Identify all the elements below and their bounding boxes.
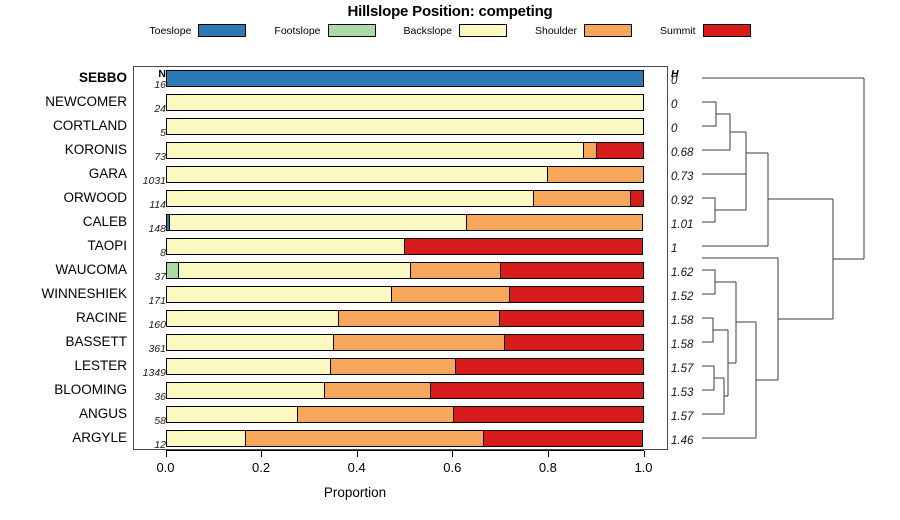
row-label-newcomer: NEWCOMER — [2, 91, 127, 113]
bar-segment-summit — [483, 430, 643, 447]
bar-segment-summit — [630, 190, 644, 207]
row-n-value: 148 — [136, 218, 166, 240]
row-n-value: 8 — [136, 242, 166, 264]
bar-segment-backslope — [166, 382, 326, 399]
bar-segment-backslope — [166, 142, 585, 159]
row-n-value: 171 — [136, 290, 166, 312]
stacked-bar-argyle — [166, 430, 644, 447]
x-axis-tick-label: 0.8 — [528, 460, 568, 475]
x-axis-tick — [357, 451, 358, 457]
legend-swatch-shoulder — [584, 24, 632, 37]
row-label-winneshiek: WINNESHIEK — [2, 283, 127, 305]
x-axis-tick — [644, 451, 645, 457]
row-n-value: 58 — [136, 410, 166, 432]
dendrogram-svg — [668, 66, 900, 450]
bar-segment-backslope — [166, 358, 332, 375]
bar-segment-shoulder — [297, 406, 455, 423]
bar-segment-summit — [455, 358, 643, 375]
x-axis-line — [166, 450, 644, 451]
x-axis-tick-label: 0.2 — [241, 460, 281, 475]
row-n-value: 5 — [136, 122, 166, 144]
row-label-blooming: BLOOMING — [2, 379, 127, 401]
bar-segment-backslope — [178, 262, 411, 279]
x-axis-tick-label: 0.0 — [146, 460, 186, 475]
bar-segment-backslope — [166, 190, 535, 207]
row-label-orwood: ORWOOD — [2, 187, 127, 209]
bar-segment-shoulder — [330, 358, 457, 375]
bar-segment-backslope — [166, 334, 335, 351]
x-axis-title: Proportion — [0, 485, 900, 500]
legend-swatch-footslope — [328, 24, 376, 37]
row-label-argyle: ARGYLE — [2, 427, 127, 449]
row-n-value: 24 — [136, 98, 166, 120]
row-label-racine: RACINE — [2, 307, 127, 329]
stacked-bar-lester — [166, 358, 644, 375]
bar-segment-summit — [509, 286, 644, 303]
bar-segment-backslope — [169, 214, 467, 231]
row-label-caleb: CALEB — [2, 211, 127, 233]
row-n-value: 1031 — [136, 170, 166, 192]
bar-segment-shoulder — [245, 430, 485, 447]
row-label-taopi: TAOPI — [2, 235, 127, 257]
bar-segment-summit — [453, 406, 643, 423]
row-label-sebbo: SEBBO — [2, 67, 127, 89]
x-axis-tick-label: 1.0 — [624, 460, 664, 475]
bar-segment-toeslope — [166, 70, 644, 87]
stacked-bar-winneshiek — [166, 286, 644, 303]
stacked-bar-taopi — [166, 238, 644, 255]
bar-segment-summit — [499, 310, 643, 327]
legend-swatch-toeslope — [198, 24, 246, 37]
legend-label: Footslope — [274, 25, 320, 37]
bar-segment-shoulder — [391, 286, 510, 303]
bar-segment-backslope — [166, 406, 299, 423]
bar-segment-summit — [430, 382, 643, 399]
x-axis-tick-label: 0.4 — [337, 460, 377, 475]
row-label-angus: ANGUS — [2, 403, 127, 425]
bar-segment-summit — [404, 238, 644, 255]
bar-segment-backslope — [166, 118, 644, 135]
bar-segment-shoulder — [533, 190, 631, 207]
row-n-value: 361 — [136, 338, 166, 360]
legend: ToeslopeFootslopeBackslopeShoulderSummit — [0, 24, 900, 37]
legend-label: Summit — [660, 25, 696, 37]
stacked-bar-racine — [166, 310, 644, 327]
row-n-value: 16 — [136, 74, 166, 96]
row-label-waucoma: WAUCOMA — [2, 259, 127, 281]
legend-item-footslope: Footslope — [274, 24, 375, 37]
x-axis-tick — [166, 451, 167, 457]
stacked-bar-newcomer — [166, 94, 644, 111]
row-label-koronis: KORONIS — [2, 139, 127, 161]
stacked-bar-angus — [166, 406, 644, 423]
stacked-bar-koronis — [166, 142, 644, 159]
bar-segment-backslope — [166, 310, 340, 327]
legend-swatch-backslope — [459, 24, 507, 37]
bar-segment-shoulder — [333, 334, 505, 351]
bar-segment-backslope — [166, 286, 393, 303]
bar-segment-backslope — [166, 238, 406, 255]
row-label-cortland: CORTLAND — [2, 115, 127, 137]
x-axis-tick-label: 0.6 — [432, 460, 472, 475]
stacked-bar-cortland — [166, 118, 644, 135]
x-axis-tick — [452, 451, 453, 457]
stacked-bar-bassett — [166, 334, 644, 351]
row-n-value: 36 — [136, 386, 166, 408]
bar-segment-backslope — [166, 166, 549, 183]
stacked-bar-blooming — [166, 382, 644, 399]
bar-segment-shoulder — [410, 262, 501, 279]
stacked-bar-orwood — [166, 190, 644, 207]
x-axis-tick — [261, 451, 262, 457]
row-label-gara: GARA — [2, 163, 127, 185]
bar-segment-shoulder — [547, 166, 643, 183]
legend-label: Shoulder — [535, 25, 577, 37]
row-n-value: 114 — [136, 194, 166, 216]
legend-label: Backslope — [404, 25, 452, 37]
row-n-value: 160 — [136, 314, 166, 336]
bar-segment-shoulder — [324, 382, 431, 399]
bar-segment-summit — [596, 142, 643, 159]
bar-segment-shoulder — [466, 214, 644, 231]
chart-title: Hillslope Position: competing — [0, 3, 900, 20]
x-axis-tick — [548, 451, 549, 457]
legend-item-backslope: Backslope — [404, 24, 507, 37]
legend-item-summit: Summit — [660, 24, 751, 37]
row-label-bassett: BASSETT — [2, 331, 127, 353]
bar-segment-backslope — [166, 94, 644, 111]
stacked-bar-caleb — [166, 214, 644, 231]
row-n-value: 1349 — [136, 362, 166, 384]
stacked-bar-sebbo — [166, 70, 644, 87]
stacked-bar-gara — [166, 166, 644, 183]
row-n-value: 37 — [136, 266, 166, 288]
stacked-bar-waucoma — [166, 262, 644, 279]
bar-segment-backslope — [166, 430, 247, 447]
row-n-value: 12 — [136, 434, 166, 456]
dendrogram — [668, 66, 900, 450]
legend-swatch-summit — [703, 24, 751, 37]
row-n-value: 73 — [136, 146, 166, 168]
legend-item-toeslope: Toeslope — [149, 24, 246, 37]
bar-segment-summit — [504, 334, 644, 351]
legend-label: Toeslope — [149, 25, 191, 37]
bar-segment-shoulder — [338, 310, 500, 327]
bar-segment-summit — [500, 262, 643, 279]
row-label-lester: LESTER — [2, 355, 127, 377]
legend-item-shoulder: Shoulder — [535, 24, 632, 37]
